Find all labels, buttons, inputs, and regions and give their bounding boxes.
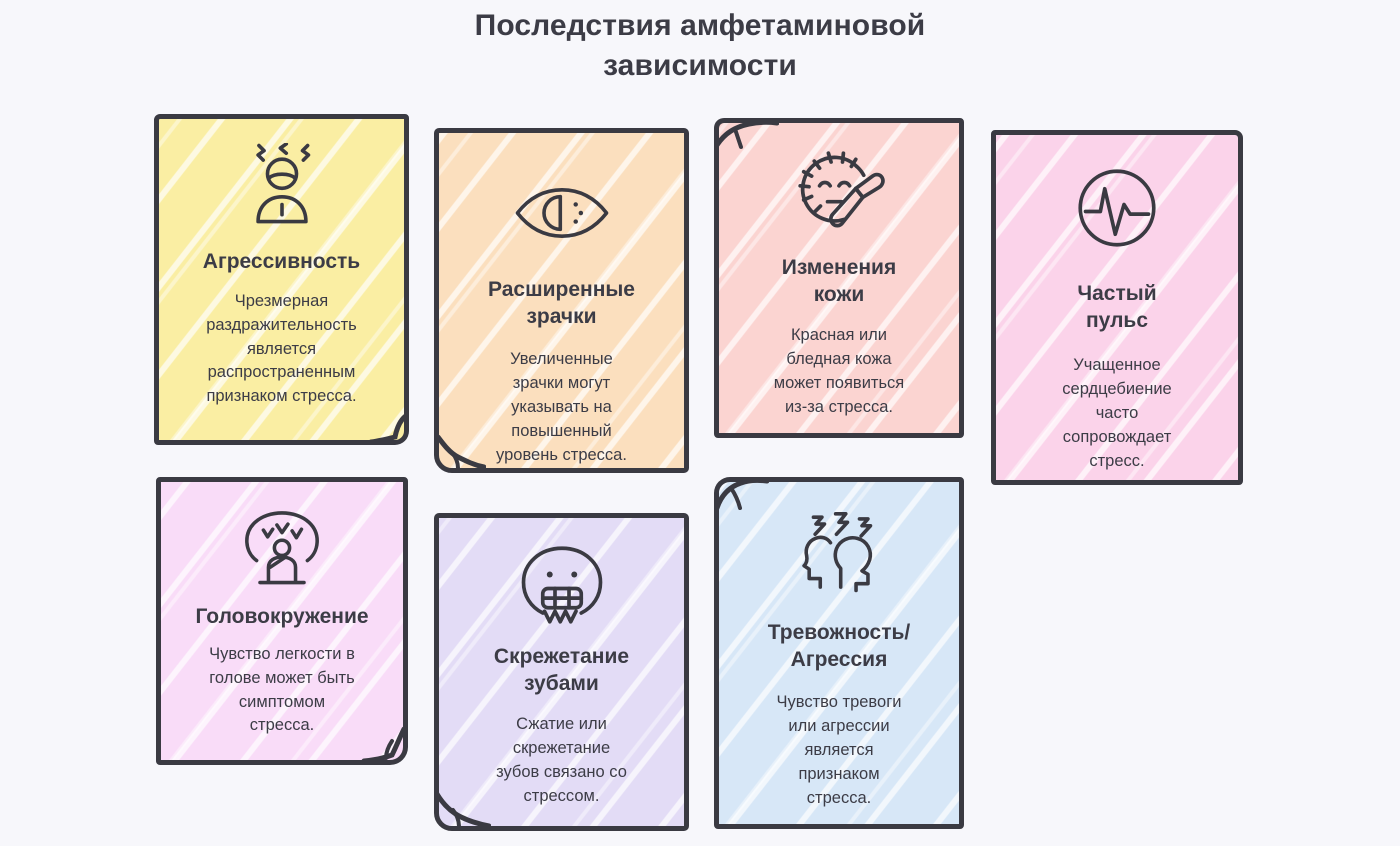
card-teeth[interactable]: Скрежетание зубами Сжатие или скрежетани…	[434, 513, 689, 831]
grinding-teeth-face-icon	[520, 542, 604, 628]
card-content: Головокружение Чувство легкости в голове…	[161, 482, 403, 760]
card-title: Изменения кожи	[772, 255, 906, 308]
card-description: Учащенное сердцебиение часто сопровождае…	[1048, 354, 1185, 474]
card-anxiety[interactable]: Тревожность/ Агрессия Чувство тревоги ил…	[714, 477, 964, 829]
card-description: Красная или бледная кожа может появиться…	[760, 324, 919, 420]
card-title: Расширенные зрачки	[478, 277, 645, 330]
card-skin[interactable]: Изменения кожи Красная или бледная кожа …	[714, 118, 964, 438]
card-dizziness[interactable]: Головокружение Чувство легкости в голове…	[156, 477, 408, 765]
card-content: Тревожность/ Агрессия Чувство тревоги ил…	[719, 482, 959, 824]
card-description: Сжатие или скрежетание зубов связано со …	[482, 713, 641, 809]
card-description: Увеличенные зрачки могут указывать на по…	[482, 348, 641, 468]
page-title: Последствия амфетаминовой зависимости	[0, 6, 1400, 85]
card-title: Головокружение	[185, 604, 378, 631]
card-content: Агрессивность Чрезмерная раздражительнос…	[159, 119, 404, 440]
card-content: Изменения кожи Красная или бледная кожа …	[719, 123, 959, 433]
card-content: Скрежетание зубами Сжатие или скрежетани…	[439, 518, 684, 826]
card-description: Чувство легкости в голове может быть сим…	[195, 643, 369, 739]
card-pupils[interactable]: Расширенные зрачки Увеличенные зрачки мо…	[434, 128, 689, 473]
card-aggression[interactable]: Агрессивность Чрезмерная раздражительнос…	[154, 114, 409, 445]
card-title: Частый пульс	[1067, 281, 1166, 334]
infographic-canvas: Последствия амфетаминовой зависимости Аг…	[0, 0, 1400, 846]
card-description: Чувство тревоги или агрессии является пр…	[763, 691, 916, 811]
card-pulse[interactable]: Частый пульс Учащенное сердцебиение част…	[991, 130, 1243, 485]
card-content: Частый пульс Учащенное сердцебиение част…	[996, 135, 1238, 480]
two-heads-lightning-icon	[793, 508, 885, 598]
face-brush-icon	[793, 147, 885, 237]
card-title: Агрессивность	[193, 249, 370, 276]
heart-pulse-icon	[1075, 165, 1159, 251]
dizzy-person-icon	[238, 504, 326, 590]
card-description: Чрезмерная раздражительность является ра…	[192, 290, 371, 410]
angry-head-icon	[239, 141, 325, 227]
dilated-eye-icon	[514, 175, 610, 251]
card-title: Тревожность/ Агрессия	[758, 620, 921, 673]
card-content: Расширенные зрачки Увеличенные зрачки мо…	[439, 133, 684, 468]
card-title: Скрежетание зубами	[484, 644, 639, 697]
